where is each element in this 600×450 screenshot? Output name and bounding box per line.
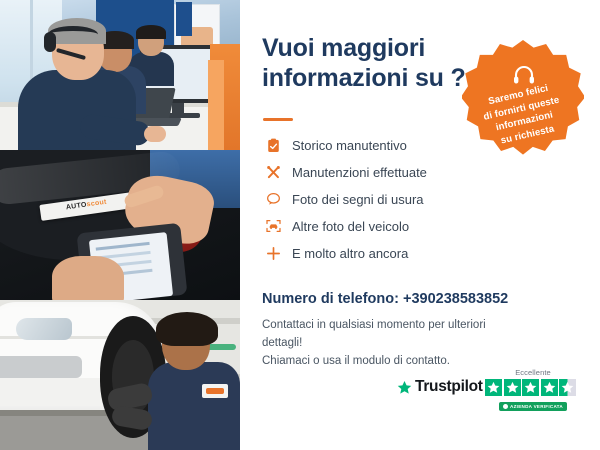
photo-wheel-service: [0, 300, 240, 450]
rating-star-5: [559, 379, 576, 396]
contact-line-2: Chiamaci o usa il modulo di contatto.: [262, 353, 522, 371]
headline-line-1: Vuoi maggiori: [262, 34, 482, 64]
photo-column: AUTOscout: [0, 0, 240, 450]
contact-description: Contattaci in qualsiasi momento per ulte…: [262, 317, 522, 370]
list-item: Storico manutentivo: [262, 132, 512, 158]
tools-cross-icon: [262, 163, 284, 181]
list-item: Manutenzioni effettuate: [262, 159, 512, 185]
list-item: E molto altro ancora: [262, 240, 512, 266]
inspector-hand-lower: [52, 256, 124, 300]
mechanic: [148, 318, 240, 450]
photo-call-center: [0, 0, 240, 150]
list-item-label: Manutenzioni effettuate: [292, 165, 427, 180]
trustpilot-rating-block: Eccellente: [485, 368, 581, 414]
photo-damage-inspection: AUTOscout: [0, 150, 240, 300]
rating-star-3: [522, 379, 539, 396]
list-item-label: E molto altro ancora: [292, 246, 408, 261]
measuring-strip-label: AUTOscout: [66, 199, 108, 212]
car-headlight: [16, 318, 72, 340]
plus-icon: [262, 244, 284, 262]
trustpilot-rating-label: Eccellente: [485, 368, 581, 377]
list-item-label: Storico manutentivo: [292, 138, 407, 153]
wall-banner: [176, 2, 192, 36]
list-item: Foto dei segni di usura: [262, 186, 512, 212]
list-item-label: Foto dei segni di usura: [292, 192, 424, 207]
orange-accent-panel: [208, 60, 224, 150]
content-panel: Vuoi maggiori informazioni su ? Saremo f…: [240, 0, 600, 450]
feature-list: Storico manutentivo Manutenzioni effettu…: [262, 132, 512, 267]
trustpilot-star-icon: [397, 380, 412, 395]
verified-business-badge: AZIENDA VERIFICATA: [499, 402, 567, 411]
rating-star-2: [504, 379, 521, 396]
headset-icon: [512, 65, 536, 85]
phone-number[interactable]: Numero di telefono: +390238583852: [262, 291, 508, 307]
info-request-banner: AUTOscout: [0, 0, 600, 450]
uniform-logo-badge: [202, 384, 228, 398]
foreground-operator: [18, 22, 136, 150]
trustpilot-wordmark: Trustpilot: [415, 378, 483, 396]
verified-badge-label: AZIENDA VERIFICATA: [510, 404, 563, 409]
car-grille: [0, 356, 82, 378]
contact-line-1: Contattaci in qualsiasi momento per ulte…: [262, 317, 522, 353]
list-item-label: Altre foto del veicolo: [292, 219, 409, 234]
rating-star-4: [541, 379, 558, 396]
list-item: Altre foto del veicolo: [262, 213, 512, 239]
clipboard-check-icon: [262, 136, 284, 154]
speech-bubble-icon: [262, 190, 284, 208]
verified-check-icon: [503, 404, 508, 409]
rating-star-1: [485, 379, 502, 396]
trustpilot-star-rating: [485, 379, 581, 396]
trustpilot-logo: Trustpilot: [397, 378, 483, 396]
headset-band-icon: [48, 26, 98, 43]
car-scan-icon: [262, 217, 284, 235]
headline-line-2: informazioni su ?: [262, 64, 482, 94]
title-underline-divider: [263, 118, 293, 121]
page-title: Vuoi maggiori informazioni su ?: [262, 34, 482, 93]
